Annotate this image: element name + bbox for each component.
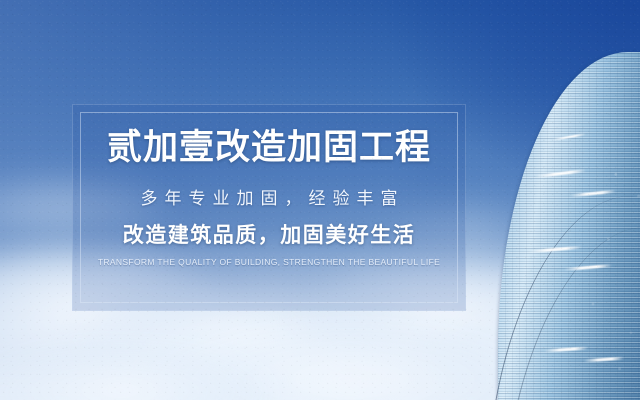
headline-panel: 贰加壹改造加固工程 多年专业加固，经验丰富 改造建筑品质，加固美好生活 TRAN… <box>72 104 466 311</box>
slogan-english: TRANSFORM THE QUALITY OF BUILDING, STREN… <box>73 257 465 267</box>
slogan-chinese: 改造建筑品质，加固美好生活 <box>73 223 465 248</box>
tower-body <box>498 52 640 400</box>
glass-tower-building <box>480 0 640 400</box>
hero-banner: 贰加壹改造加固工程 多年专业加固，经验丰富 改造建筑品质，加固美好生活 TRAN… <box>0 0 640 400</box>
page-title: 贰加壹改造加固工程 <box>73 129 465 167</box>
subtitle: 多年专业加固，经验丰富 <box>73 189 465 209</box>
panel-content: 贰加壹改造加固工程 多年专业加固，经验丰富 改造建筑品质，加固美好生活 TRAN… <box>73 105 465 268</box>
